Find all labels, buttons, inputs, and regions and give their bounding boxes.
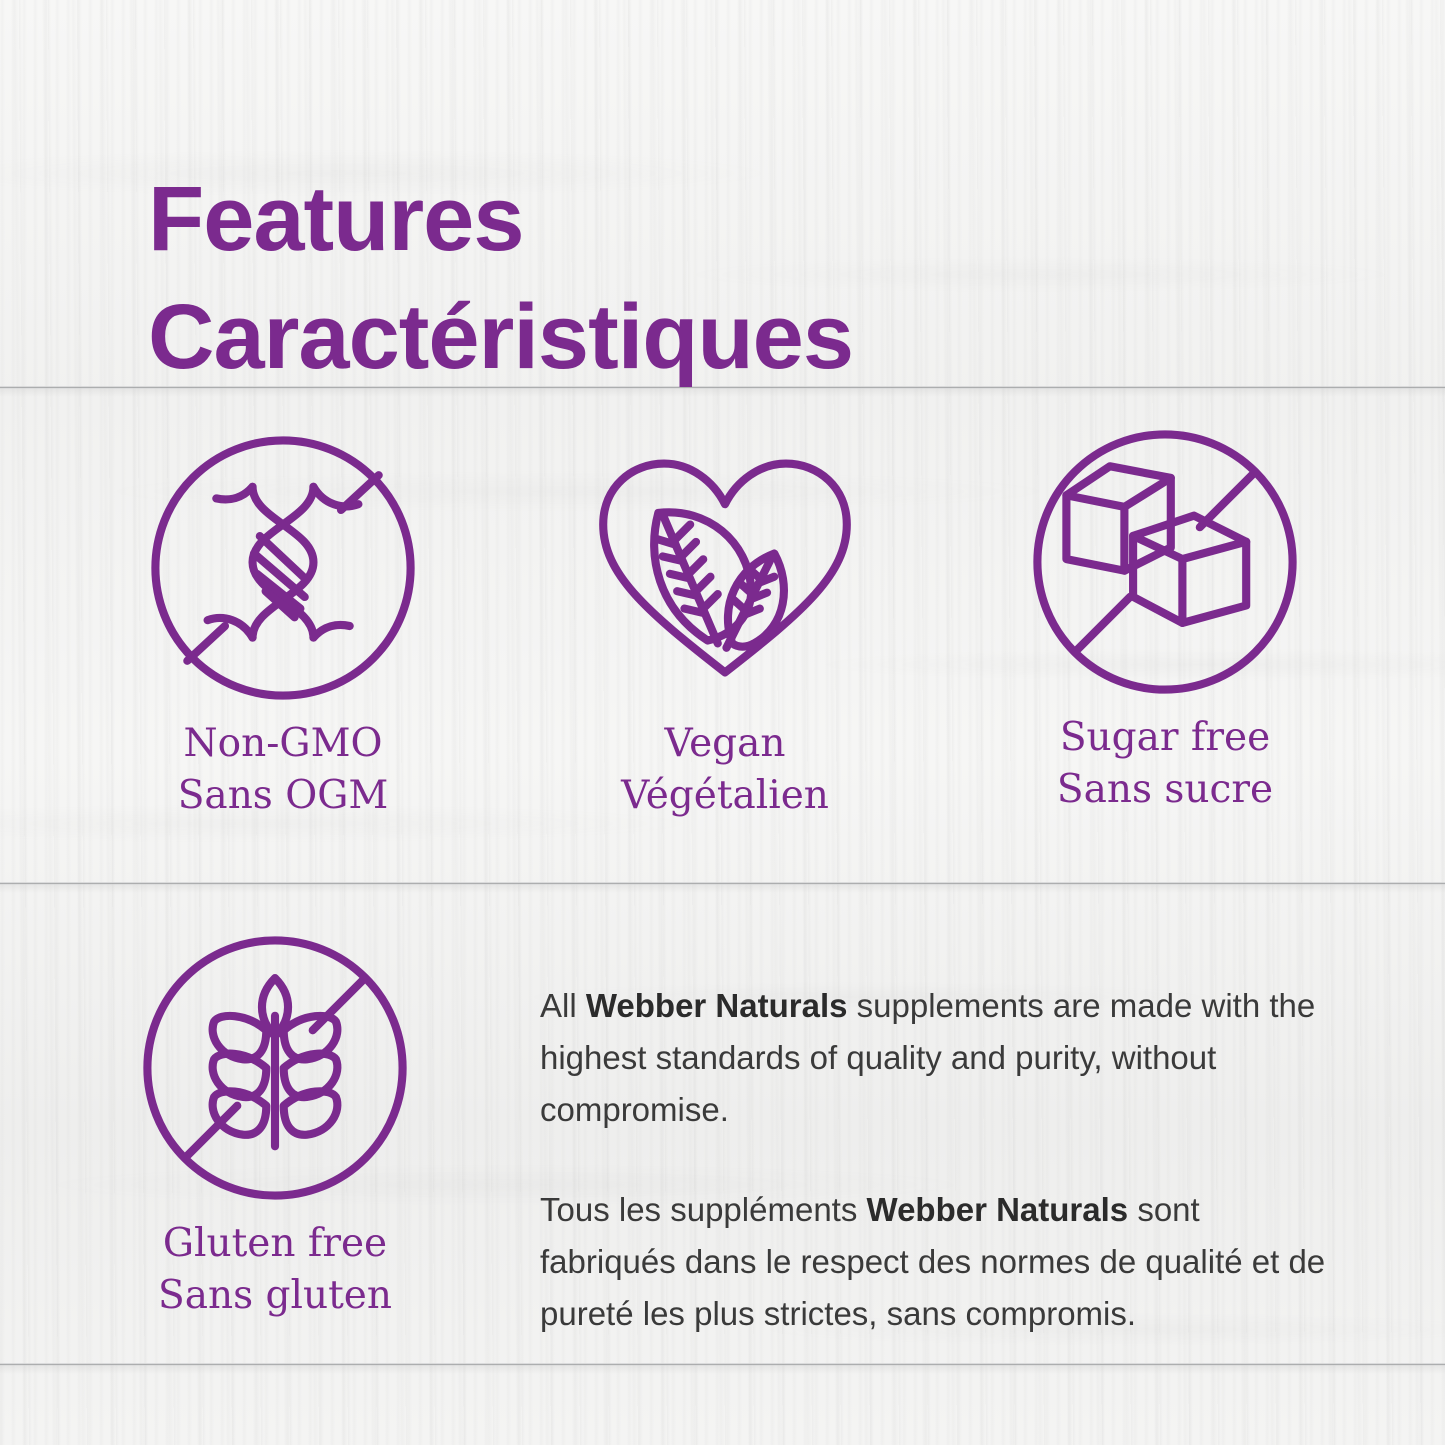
feature-non-gmo: Non-GMO Sans OGM [118,418,448,822]
page-title-en: Features [148,168,524,270]
plank-seam-3 [0,1363,1445,1366]
page-title: Features Caractéristiques [148,160,853,396]
feature-sugar-free: Sugar free Sans sucre [1000,412,1330,816]
feature-label-en: Non-GMO [118,718,448,770]
no-gmo-dna-icon [118,418,448,718]
feature-label-fr: Sans OGM [118,770,448,822]
brand-name-fr: Webber Naturals [867,1191,1129,1228]
feature-label-en: Gluten free [110,1218,440,1270]
no-wheat-icon [110,918,440,1218]
copy-fr-before: Tous les suppléments [540,1191,867,1228]
feature-label-fr: Végétalien [560,770,890,822]
feature-label-en: Vegan [560,718,890,770]
page-title-fr: Caractéristiques [148,278,853,396]
feature-caption: Sugar free Sans sucre [1000,712,1330,816]
feature-label-fr: Sans sucre [1000,764,1330,816]
no-sugar-cubes-icon [1000,412,1330,712]
feature-caption: Non-GMO Sans OGM [118,718,448,822]
heart-leaves-icon [560,418,890,718]
feature-caption: Vegan Végétalien [560,718,890,822]
feature-label-fr: Sans gluten [110,1270,440,1322]
feature-label-en: Sugar free [1000,712,1330,764]
brand-statement-en: All Webber Naturals supplements are made… [540,980,1330,1136]
brand-statement-fr: Tous les suppléments Webber Naturals son… [540,1184,1330,1340]
feature-caption: Gluten free Sans gluten [110,1218,440,1322]
feature-vegan: Vegan Végétalien [560,418,890,822]
brand-name-en: Webber Naturals [586,987,848,1024]
feature-panel: Features Caractéristiques [0,0,1445,1445]
feature-gluten-free: Gluten free Sans gluten [110,918,440,1322]
plank-seam-2 [0,882,1445,885]
copy-en-before: All [540,987,586,1024]
brand-statement: All Webber Naturals supplements are made… [540,980,1330,1340]
